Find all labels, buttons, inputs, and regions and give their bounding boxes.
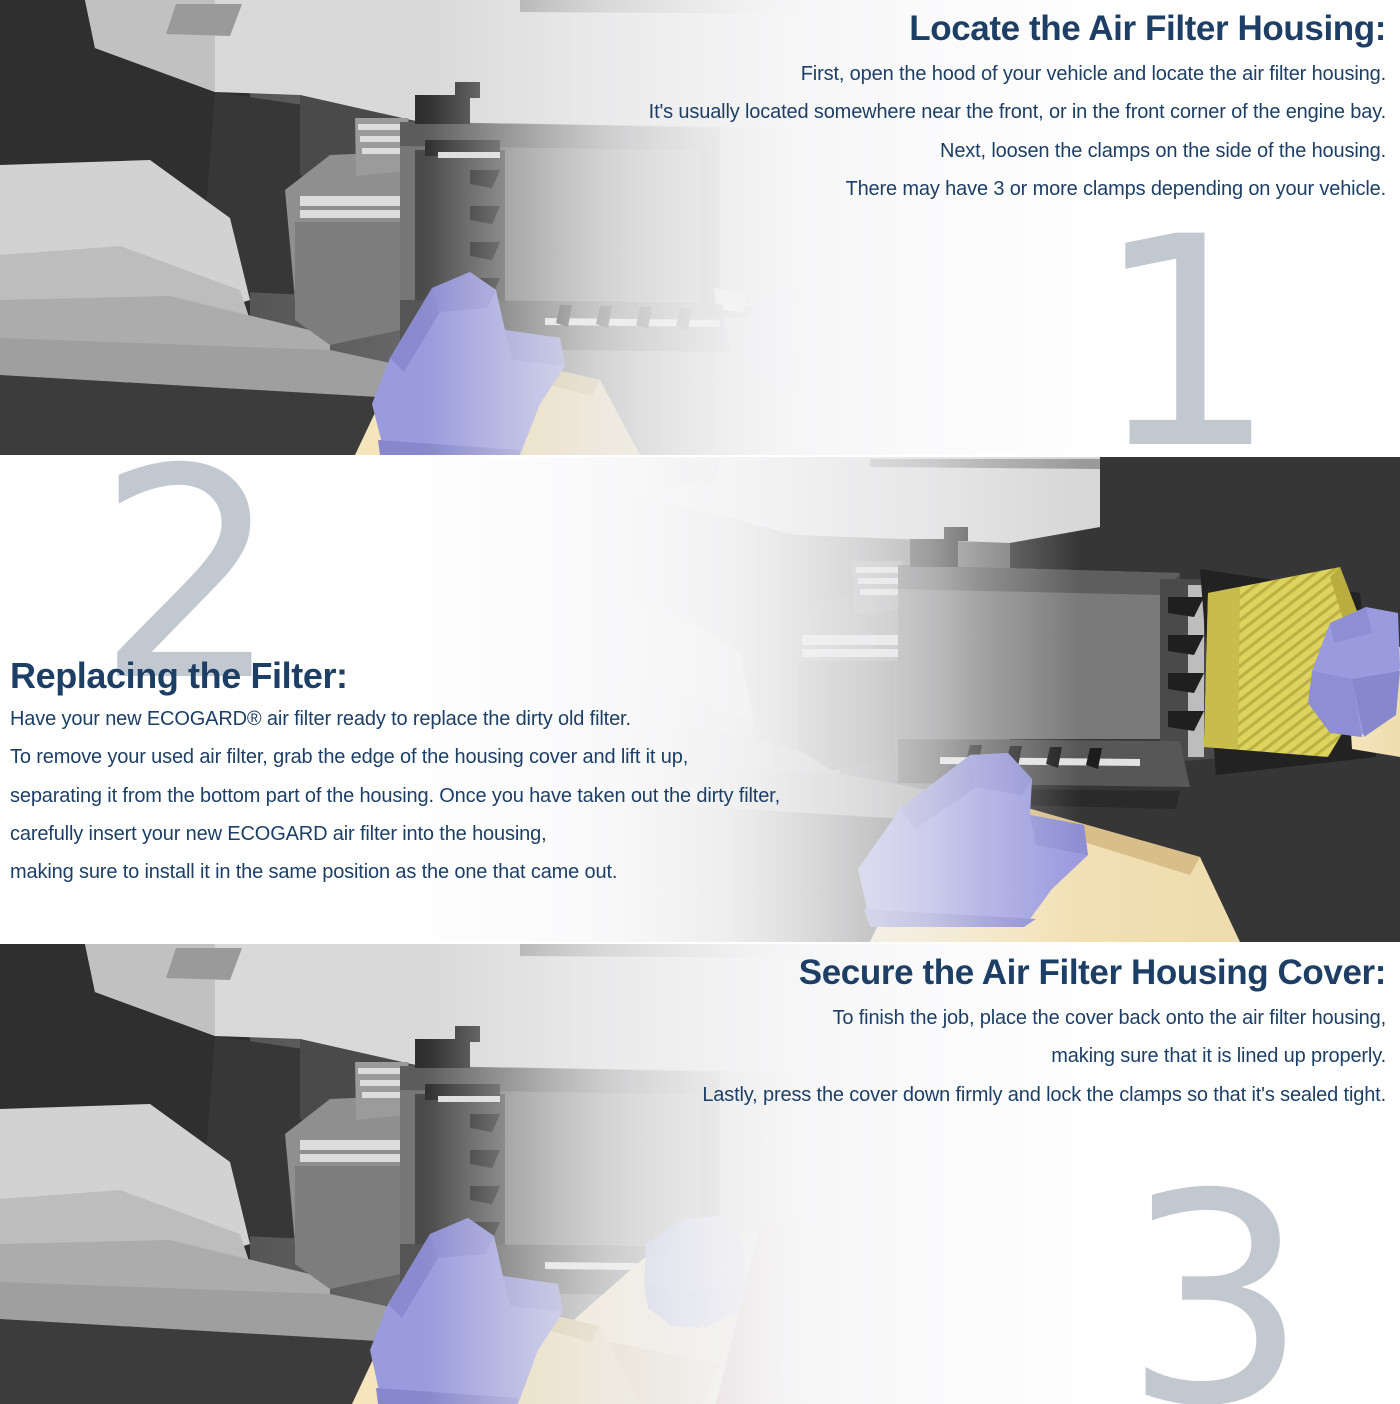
step-1-text: Locate the Air Filter Housing: First, op…: [556, 10, 1386, 208]
step-3-text: Secure the Air Filter Housing Cover: To …: [556, 954, 1386, 1114]
step-3-line-3: Lastly, press the cover down firmly and …: [556, 1076, 1386, 1114]
step-1-line-2: It's usually located somewhere near the …: [556, 93, 1386, 131]
step-1-title: Locate the Air Filter Housing:: [556, 10, 1386, 48]
step-1-line-4: There may have 3 or more clamps dependin…: [556, 170, 1386, 208]
step-2-line-5: making sure to install it in the same po…: [10, 853, 910, 891]
step-1-line-3: Next, loosen the clamps on the side of t…: [556, 132, 1386, 170]
step-2-line-4: carefully insert your new ECOGARD air fi…: [10, 815, 910, 853]
step-2-title: Replacing the Filter:: [10, 657, 910, 696]
step-2-text: Replacing the Filter: Have your new ECOG…: [10, 657, 910, 892]
step-panel-3: 3 Secure the Air Filter Housing Cover: T…: [0, 944, 1400, 1404]
step-panel-2: 2 Replacing the Filter: Have your new EC…: [0, 457, 1400, 942]
step-2-line-3: separating it from the bottom part of th…: [10, 777, 910, 815]
step-3-line-2: making sure that it is lined up properly…: [556, 1037, 1386, 1075]
step-2-line-1: Have your new ECOGARD® air filter ready …: [10, 700, 910, 738]
step-number-3: 3: [1123, 1186, 1302, 1404]
step-3-title: Secure the Air Filter Housing Cover:: [556, 954, 1386, 992]
step-panel-1: 1 Locate the Air Filter Housing: First, …: [0, 0, 1400, 455]
step-number-1: 1: [1093, 229, 1272, 455]
step-3-line-1: To finish the job, place the cover back …: [556, 999, 1386, 1037]
step-1-line-1: First, open the hood of your vehicle and…: [556, 55, 1386, 93]
step-2-line-2: To remove your used air filter, grab the…: [10, 738, 910, 776]
air-filter-instructions-infographic: 1 Locate the Air Filter Housing: First, …: [0, 0, 1400, 1400]
